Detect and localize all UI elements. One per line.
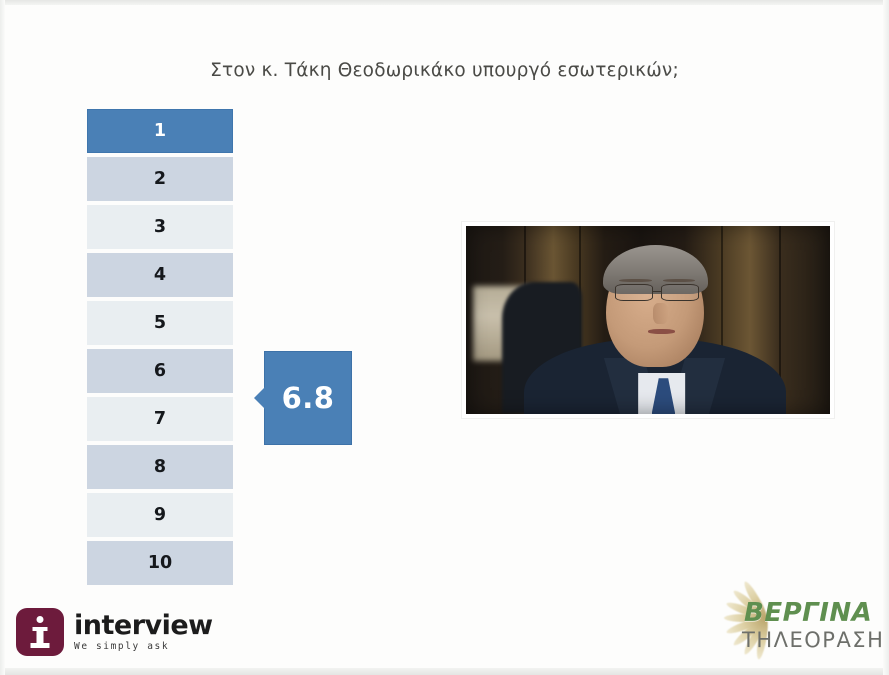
rating-scale: 1 2 3 4 5 6 7 8 9 10 (87, 109, 233, 589)
score-value: 6.8 (282, 381, 335, 415)
info-i-icon (16, 608, 64, 656)
photo-vignette (466, 226, 830, 414)
subject-photo-image (466, 226, 830, 414)
scale-row-label: 9 (154, 505, 166, 525)
scale-row[interactable]: 4 (87, 253, 233, 297)
scale-row[interactable]: 7 (87, 397, 233, 441)
scale-row[interactable]: 3 (87, 205, 233, 249)
scale-row[interactable]: 10 (87, 541, 233, 585)
slide-border-bottom (0, 668, 889, 675)
interview-logo-tagline: We simply ask (74, 642, 213, 652)
scale-row[interactable]: 5 (87, 301, 233, 345)
scale-row[interactable]: 1 (87, 109, 233, 153)
scale-row-label: 8 (154, 457, 166, 477)
slide-border-left (0, 0, 5, 675)
scale-row-label: 10 (148, 553, 172, 573)
scale-row-label: 3 (154, 217, 166, 237)
slide-border-top (0, 0, 889, 5)
interview-logo: interview We simply ask (16, 608, 213, 656)
scale-row[interactable]: 6 (87, 349, 233, 393)
poll-result-slide: Στον κ. Τάκη Θεοδωρικάκο υπουργό εσωτερι… (0, 0, 889, 675)
interview-logo-name: interview (74, 612, 213, 639)
score-callout: 6.8 (264, 351, 352, 445)
scale-row-label: 6 (154, 361, 166, 381)
scale-row-label: 7 (154, 409, 166, 429)
scale-row-label: 4 (154, 265, 166, 285)
subject-photo (462, 222, 834, 418)
scale-row[interactable]: 9 (87, 493, 233, 537)
vergina-logo-name: ΒΕΡΓΙΝΑ (744, 598, 872, 628)
scale-row[interactable]: 2 (87, 157, 233, 201)
scale-row-label: 5 (154, 313, 166, 333)
vergina-logo-subtitle: ΤΗΛΕΟΡΑΣΗ (742, 628, 884, 652)
scale-row-label: 1 (154, 121, 166, 141)
vergina-logo: ΒΕΡΓΙΝΑ ΤΗΛΕΟΡΑΣΗ (694, 582, 874, 662)
page-title: Στον κ. Τάκη Θεοδωρικάκο υπουργό εσωτερι… (0, 60, 889, 81)
slide-border-right (883, 0, 889, 675)
scale-row[interactable]: 8 (87, 445, 233, 489)
scale-row-label: 2 (154, 169, 166, 189)
callout-pointer-icon (254, 387, 265, 409)
